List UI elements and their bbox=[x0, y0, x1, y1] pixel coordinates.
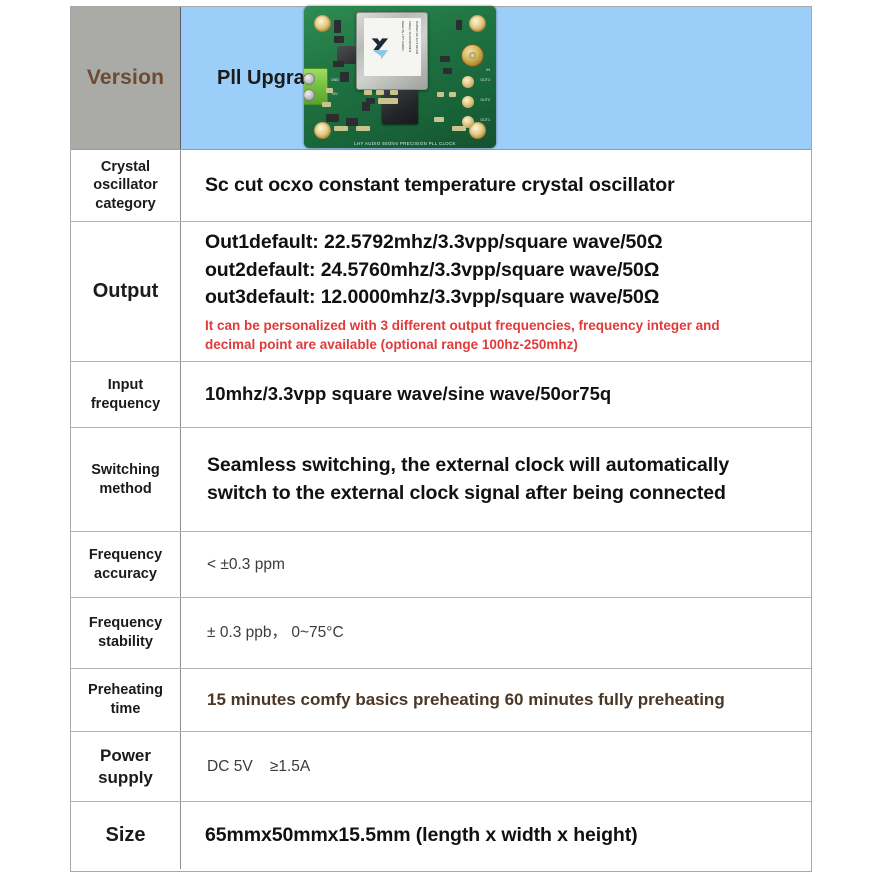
row-label-switching-method: Switching method bbox=[71, 428, 181, 531]
smd-component bbox=[334, 36, 344, 43]
row-value-power-supply: DC 5V ≥1.5A bbox=[181, 732, 811, 801]
version-label-text: Version bbox=[87, 65, 164, 92]
row-label-size: Size bbox=[71, 802, 181, 869]
mounting-hole-icon bbox=[469, 15, 486, 32]
sma-connector bbox=[461, 44, 484, 67]
row-label-version: Version bbox=[71, 7, 181, 149]
row-value-frequency-stability: ± 0.3 ppb， 0~75°C bbox=[181, 598, 811, 668]
smd-pad bbox=[376, 90, 384, 95]
output-line-3: out3default: 12.0000mhz/3.3vpp/square wa… bbox=[205, 284, 811, 312]
preheating-time-text: 15 minutes comfy basics preheating 60 mi… bbox=[207, 688, 811, 712]
table-row-preheating-time: Preheating time 15 minutes comfy basics … bbox=[71, 669, 811, 732]
terminal-screw-icon bbox=[304, 73, 315, 85]
row-value-preheating-time: 15 minutes comfy basics preheating 60 mi… bbox=[181, 669, 811, 731]
row-value-output: Out1default: 22.5792mhz/3.3vpp/square wa… bbox=[181, 222, 811, 361]
row-label-frequency-accuracy: Frequency accuracy bbox=[71, 532, 181, 597]
table-row-size: Size 65mmx50mmx15.5mm (length x width x … bbox=[71, 802, 811, 869]
smd-pad bbox=[322, 102, 331, 107]
smd-component bbox=[326, 114, 339, 122]
table-row-switching-method: Switching method Seamless switching, the… bbox=[71, 428, 811, 532]
output-note-line-1: It can be personalized with 3 different … bbox=[205, 316, 811, 335]
table-row-frequency-accuracy: Frequency accuracy < ±0.3 ppm bbox=[71, 532, 811, 598]
silkscreen-out2: OUT2 bbox=[480, 98, 490, 102]
mounting-hole-icon bbox=[314, 122, 331, 139]
table-row-crystal-oscillator-category: Crystal oscillator category Sc cut ocxo … bbox=[71, 150, 811, 222]
row-value-crystal-oscillator-category: Sc cut ocxo constant temperature crystal… bbox=[181, 150, 811, 221]
output-pad-out2 bbox=[462, 96, 474, 108]
smd-component bbox=[456, 20, 462, 30]
output-line-1: Out1default: 22.5792mhz/3.3vpp/square wa… bbox=[205, 229, 811, 257]
output-note-line-2: decimal point are available (optional ra… bbox=[205, 335, 811, 354]
smd-pad bbox=[326, 88, 333, 93]
silkscreen-out1: OUT1 bbox=[480, 118, 490, 122]
silkscreen-in: IN bbox=[486, 68, 490, 72]
terminal-screw-icon bbox=[304, 89, 315, 101]
row-value-switching-method: Seamless switching, the external clock w… bbox=[181, 428, 811, 531]
smd-pad bbox=[452, 126, 466, 131]
ocxo-label-line-2: FREQ: 10.000000MHz bbox=[406, 21, 412, 52]
row-value-size: 65mmx50mmx15.5mm (length x width x heigh… bbox=[181, 802, 811, 869]
ocxo-label: SUPER SC-CUT OCXO FREQ: 10.000000MHz Mad… bbox=[364, 18, 421, 76]
ocxo-label-line-3: Made By LHY AUDIO bbox=[399, 21, 405, 51]
table-row-input-frequency: Input frequency 10mhz/3.3vpp square wave… bbox=[71, 362, 811, 428]
table-row-power-supply: Power supply DC 5V ≥1.5A bbox=[71, 732, 811, 802]
power-screw-terminal bbox=[304, 68, 328, 105]
smd-component bbox=[443, 68, 452, 74]
mounting-hole-icon bbox=[314, 15, 331, 32]
crystal-oscillator-category-text: Sc cut ocxo constant temperature crystal… bbox=[205, 172, 811, 200]
hx-brand-logo-icon bbox=[369, 36, 393, 62]
size-text: 65mmx50mmx15.5mm (length x width x heigh… bbox=[205, 822, 811, 850]
ocxo-label-line-1: SUPER SC-CUT OCXO bbox=[413, 21, 419, 54]
ocxo-module: SUPER SC-CUT OCXO FREQ: 10.000000MHz Mad… bbox=[356, 12, 428, 90]
smd-component bbox=[340, 72, 349, 82]
smd-component bbox=[346, 118, 358, 126]
switching-method-line-2: switch to the external clock signal afte… bbox=[207, 480, 811, 508]
row-label-output: Output bbox=[71, 222, 181, 361]
smd-pad bbox=[334, 126, 348, 131]
smd-pad bbox=[390, 90, 398, 95]
power-supply-text: DC 5V ≥1.5A bbox=[207, 756, 811, 778]
smd-component bbox=[366, 98, 375, 104]
smd-pad bbox=[434, 117, 444, 122]
smd-pad bbox=[356, 126, 370, 131]
output-pad-out3 bbox=[462, 76, 474, 88]
smd-component bbox=[440, 56, 450, 62]
input-frequency-text: 10mhz/3.3vpp square wave/sine wave/50or7… bbox=[205, 381, 811, 408]
pll-ic-chip bbox=[382, 90, 418, 124]
frequency-stability-text: ± 0.3 ppb， 0~75°C bbox=[207, 622, 811, 644]
smd-pad bbox=[378, 98, 398, 104]
pcb-board: SUPER SC-CUT OCXO FREQ: 10.000000MHz Mad… bbox=[304, 6, 496, 148]
smd-pad bbox=[437, 92, 444, 97]
smd-component bbox=[333, 61, 344, 67]
smd-pad bbox=[449, 92, 456, 97]
silkscreen-gnd: GND bbox=[331, 78, 339, 82]
table-row-frequency-stability: Frequency stability ± 0.3 ppb， 0~75°C bbox=[71, 598, 811, 669]
pcb-silkscreen-text: LHY AUDIO 50Ohm PRECISION PLL CLOCK bbox=[330, 141, 480, 146]
row-value-input-frequency: 10mhz/3.3vpp square wave/sine wave/50or7… bbox=[181, 362, 811, 427]
table-row-output: Output Out1default: 22.5792mhz/3.3vpp/sq… bbox=[71, 222, 811, 362]
row-value-frequency-accuracy: < ±0.3 ppm bbox=[181, 532, 811, 597]
row-label-preheating-time: Preheating time bbox=[71, 669, 181, 731]
smd-pad bbox=[364, 90, 372, 95]
output-line-2: out2default: 24.5760mhz/3.3vpp/square wa… bbox=[205, 257, 811, 285]
pcb-product-photo: SUPER SC-CUT OCXO FREQ: 10.000000MHz Mad… bbox=[302, 2, 498, 152]
switching-method-line-1: Seamless switching, the external clock w… bbox=[207, 452, 811, 480]
row-label-crystal-oscillator-category: Crystal oscillator category bbox=[71, 150, 181, 221]
row-label-input-frequency: Input frequency bbox=[71, 362, 181, 427]
smd-component bbox=[334, 20, 341, 33]
silkscreen-out3: OUT3 bbox=[480, 78, 490, 82]
frequency-accuracy-text: < ±0.3 ppm bbox=[207, 554, 811, 576]
row-label-power-supply: Power supply bbox=[71, 732, 181, 801]
row-label-frequency-stability: Frequency stability bbox=[71, 598, 181, 668]
spec-sheet-page: Version Pll Upgraded version Crystal osc… bbox=[0, 0, 882, 882]
